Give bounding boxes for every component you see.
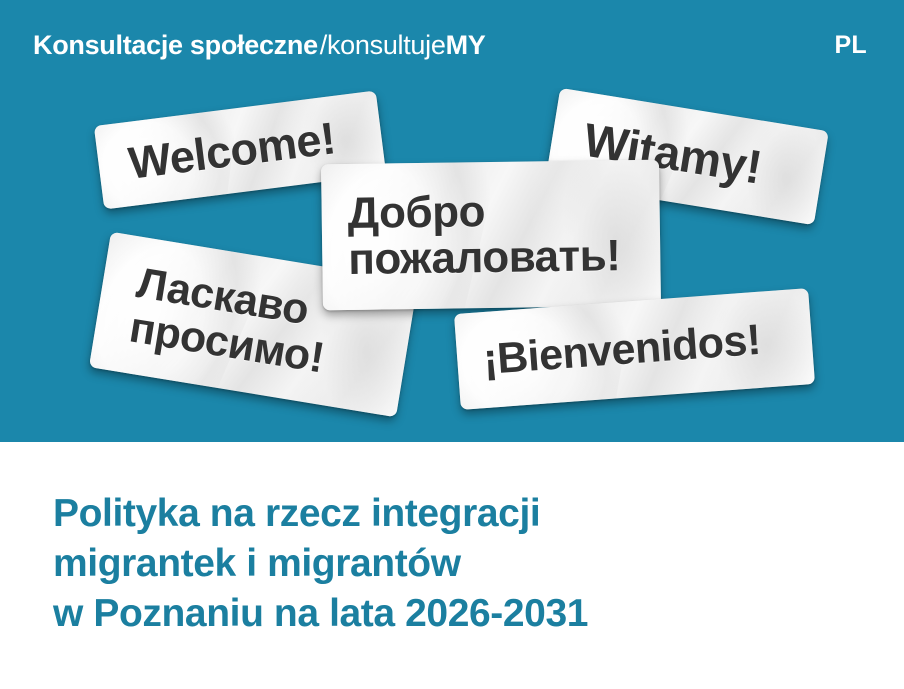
sticky-note-dobro-text: Добро пожаловать! bbox=[347, 187, 620, 282]
page-title-line-2: migrantek i migrantów bbox=[53, 539, 588, 589]
brand-secondary-label: konsultuje bbox=[327, 30, 446, 60]
hero-banner: Welcome! Добро пожаловать! Witamy! Ласка… bbox=[0, 88, 904, 442]
sticky-note-bienvenidos-text: ¡Bienvenidos! bbox=[482, 317, 762, 382]
brand-slash-separator: / bbox=[318, 30, 327, 60]
page-title-line-3: w Poznaniu na lata 2026-2031 bbox=[53, 589, 588, 639]
sticky-note-dobro-line2: пожаловать! bbox=[348, 231, 621, 284]
language-switcher-pl[interactable]: PL bbox=[834, 30, 867, 60]
page-root: Konsultacje społeczne/konsultujeMY PL We… bbox=[0, 0, 904, 689]
page-title-line-1: Polityka na rzecz integracji bbox=[53, 489, 588, 539]
site-brand-logo[interactable]: Konsultacje społeczne/konsultujeMY bbox=[33, 30, 485, 60]
site-header: Konsultacje społeczne/konsultujeMY PL bbox=[0, 0, 904, 88]
sticky-note-laskavo-text: Ласкаво просимо! bbox=[126, 261, 334, 381]
sticky-note-welcome-text: Welcome! bbox=[126, 115, 338, 187]
sticky-note-dobro-line1: Добро bbox=[347, 187, 485, 238]
sticky-note-welcome-russian: Добро пожаловать! bbox=[321, 160, 661, 311]
brand-my-suffix: MY bbox=[446, 30, 486, 60]
page-title: Polityka na rzecz integracji migrantek i… bbox=[53, 489, 588, 639]
title-section: Polityka na rzecz integracji migrantek i… bbox=[0, 442, 904, 689]
brand-primary-label: Konsultacje społeczne bbox=[33, 30, 318, 60]
